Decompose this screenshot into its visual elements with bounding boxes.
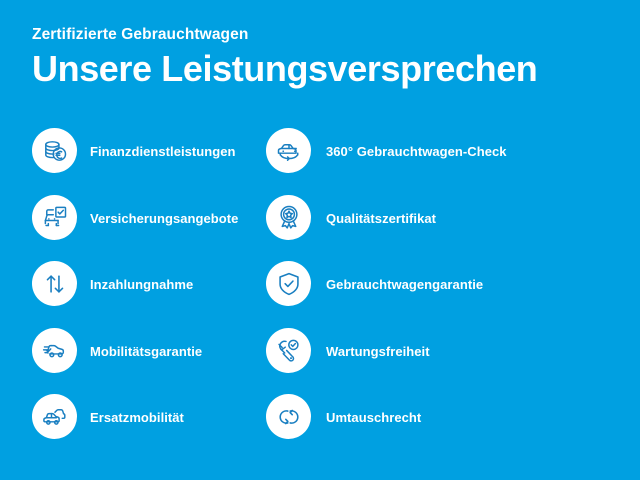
moving-car-icon [32, 328, 77, 373]
feature-label: 360° Gebrauchtwagen-Check [311, 128, 626, 158]
feature-item: 360° Gebrauchtwagen-Check [266, 128, 626, 195]
feature-item: Gebrauchtwagengarantie [266, 261, 626, 328]
feature-item: Mobilitätsgarantie [32, 328, 266, 395]
feature-label: Wartungsfreiheit [311, 328, 626, 358]
feature-label: Finanzdienstleistungen [77, 128, 266, 158]
feature-item: Wartungsfreiheit [266, 328, 626, 395]
slide-header: Zertifizierte Gebrauchtwagen Unsere Leis… [32, 26, 612, 88]
up-down-arrows-icon [32, 261, 77, 306]
feature-item: Inzahlungnahme [32, 261, 266, 328]
feature-item: Versicherungsangebote [32, 195, 266, 262]
feature-column-left: Finanzdienstleistungen [32, 128, 266, 461]
car-checkbox-icon [32, 195, 77, 240]
feature-label: Ersatzmobilität [77, 394, 266, 424]
feature-item: Finanzdienstleistungen [32, 128, 266, 195]
feature-label: Versicherungsangebote [77, 195, 266, 225]
eyebrow-text: Zertifizierte Gebrauchtwagen [32, 26, 612, 43]
feature-label: Gebrauchtwagengarantie [311, 261, 626, 291]
feature-label: Inzahlungnahme [77, 261, 266, 291]
car-rotation-icon [266, 128, 311, 173]
exchange-arrows-icon [266, 394, 311, 439]
coins-euro-icon [32, 128, 77, 173]
feature-label: Mobilitätsgarantie [77, 328, 266, 358]
feature-item: Ersatzmobilität [32, 394, 266, 461]
promise-slide: Zertifizierte Gebrauchtwagen Unsere Leis… [0, 0, 640, 480]
feature-item: Qualitätszertifikat [266, 195, 626, 262]
feature-label: Umtauschrecht [311, 394, 626, 424]
feature-item: Umtauschrecht [266, 394, 626, 461]
wrench-check-icon [266, 328, 311, 373]
page-title: Unsere Leistungsversprechen [32, 50, 612, 88]
shield-check-icon [266, 261, 311, 306]
feature-column-right: 360° Gebrauchtwagen-Check Qualitätszerti… [266, 128, 626, 461]
feature-label: Qualitätszertifikat [311, 195, 626, 225]
award-rosette-icon [266, 195, 311, 240]
two-cars-icon [32, 394, 77, 439]
